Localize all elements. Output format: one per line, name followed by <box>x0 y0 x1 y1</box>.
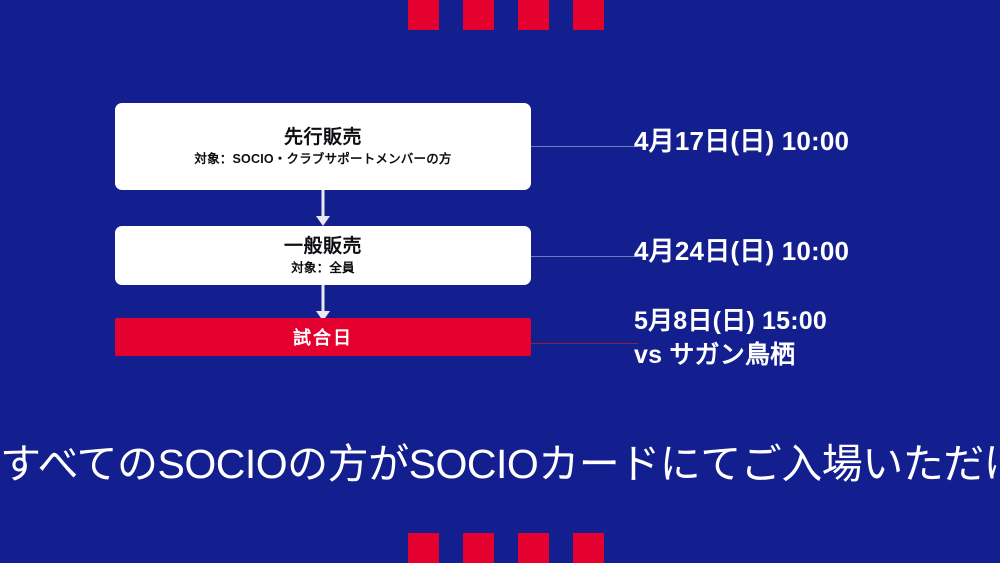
connector-line <box>322 285 325 313</box>
schedule-presale: 4月17日(日) 10:00 <box>634 126 849 157</box>
leader-line-presale <box>528 146 638 147</box>
ticket-sales-schedule-poster: 先行販売 対象：SOCIO・クラブサポートメンバーの方 一般販売 対象：全員 試… <box>0 0 1000 563</box>
entry-notice-text: すべてのSOCIOの方がSOCIOカードにてご入場いただけます。 <box>0 430 1000 490</box>
decorative-square <box>463 533 494 563</box>
schedule-general-sale-datetime: 4月24日(日) 10:00 <box>634 236 849 267</box>
decorative-square <box>573 0 604 30</box>
flow-step-general-sale: 一般販売 対象：全員 <box>115 226 531 285</box>
flow-step-general-sale-subtitle: 対象：全員 <box>291 261 355 275</box>
flow-step-match-day-title: 試合日 <box>293 324 353 350</box>
sales-flow-diagram: 先行販売 対象：SOCIO・クラブサポートメンバーの方 一般販売 対象：全員 試… <box>115 103 531 356</box>
schedule-general-sale: 4月24日(日) 10:00 <box>634 236 849 267</box>
leader-line-match-day <box>528 343 638 344</box>
connector-line <box>322 190 325 218</box>
arrow-down-icon <box>316 216 330 226</box>
flow-connector-2 <box>115 285 531 318</box>
schedule-presale-datetime: 4月17日(日) 10:00 <box>634 126 849 157</box>
flow-step-presale-subtitle: 対象：SOCIO・クラブサポートメンバーの方 <box>194 152 451 166</box>
decorative-square <box>518 533 549 563</box>
leader-line-general-sale <box>528 256 638 257</box>
decorative-square <box>518 0 549 30</box>
decorative-square <box>408 533 439 563</box>
flow-step-presale: 先行販売 対象：SOCIO・クラブサポートメンバーの方 <box>115 103 531 190</box>
flow-connector-1 <box>115 190 531 226</box>
schedule-match-day-opponent: vs サガン鳥栖 <box>634 341 827 371</box>
top-decoration-strip <box>0 0 1000 30</box>
decorative-square <box>573 533 604 563</box>
flow-step-match-day: 試合日 <box>115 318 531 356</box>
schedule-match-day-datetime: 5月8日(日) 15:00 <box>634 307 827 337</box>
bottom-decoration-strip <box>0 533 1000 563</box>
flow-step-presale-title: 先行販売 <box>284 127 362 149</box>
flow-step-general-sale-title: 一般販売 <box>284 236 362 258</box>
schedule-match-day: 5月8日(日) 15:00 vs サガン鳥栖 <box>634 307 827 370</box>
decorative-square <box>463 0 494 30</box>
decorative-square <box>408 0 439 30</box>
